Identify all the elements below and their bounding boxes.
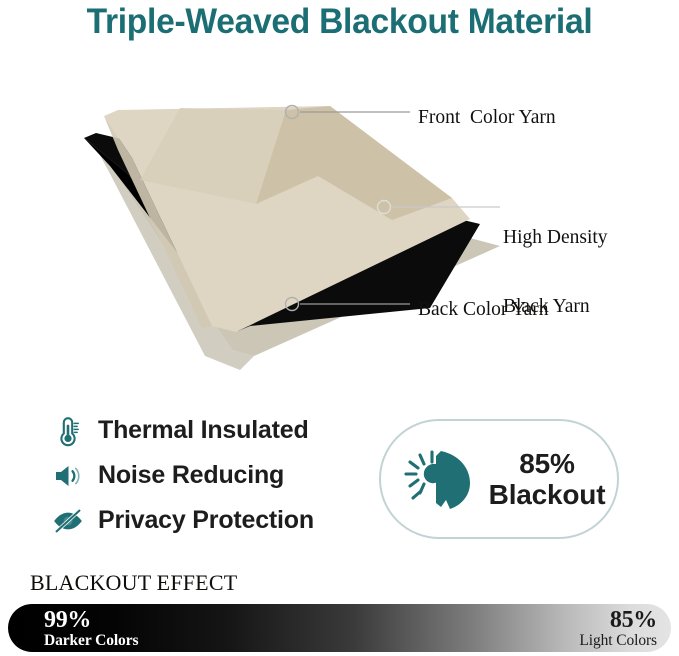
feature-thermal-insulated: Thermal Insulated [48, 408, 368, 453]
darker-colors-percent: 99% [44, 608, 138, 633]
blackout-effect-light-colors: 85% Light Colors [579, 608, 657, 649]
blackout-badge: 85% Blackout [379, 419, 619, 539]
page-title: Triple-Weaved Blackout Material [14, 2, 666, 42]
light-colors-percent: 85% [579, 608, 657, 633]
feature-label-noise-reducing: Noise Reducing [98, 461, 284, 490]
feature-privacy-protection: Privacy Protection [48, 498, 368, 543]
product-infographic: Triple-Weaved Blackout Material [0, 0, 679, 656]
blackout-badge-word: Blackout [483, 479, 611, 510]
blackout-effect-darker-colors: 99% Darker Colors [44, 608, 138, 649]
eye-slash-icon [48, 502, 88, 540]
sun-behind-curtain-icon [397, 441, 483, 517]
blackout-effect-heading: BLACKOUT EFFECT [30, 570, 237, 596]
thermometer-icon [48, 412, 88, 450]
darker-colors-label: Darker Colors [44, 633, 138, 649]
feature-label-privacy-protection: Privacy Protection [98, 506, 314, 535]
callout-label-back-color-yarn: Back Color Yarn [418, 298, 549, 321]
callout-label-high-density-black-yarn: High Density Black Yarn [503, 180, 608, 364]
callout-label-front-color-yarn: Front Color Yarn [418, 106, 556, 129]
callout-label-high-density-line1: High Density [503, 226, 608, 249]
feature-label-thermal-insulated: Thermal Insulated [98, 416, 309, 445]
feature-list: Thermal Insulated Noise Reducing [48, 408, 368, 543]
speaker-sound-icon [48, 457, 88, 495]
blackout-badge-text: 85% Blackout [483, 448, 617, 511]
blackout-badge-percent: 85% [483, 448, 611, 479]
feature-noise-reducing: Noise Reducing [48, 453, 368, 498]
light-colors-label: Light Colors [579, 633, 657, 649]
